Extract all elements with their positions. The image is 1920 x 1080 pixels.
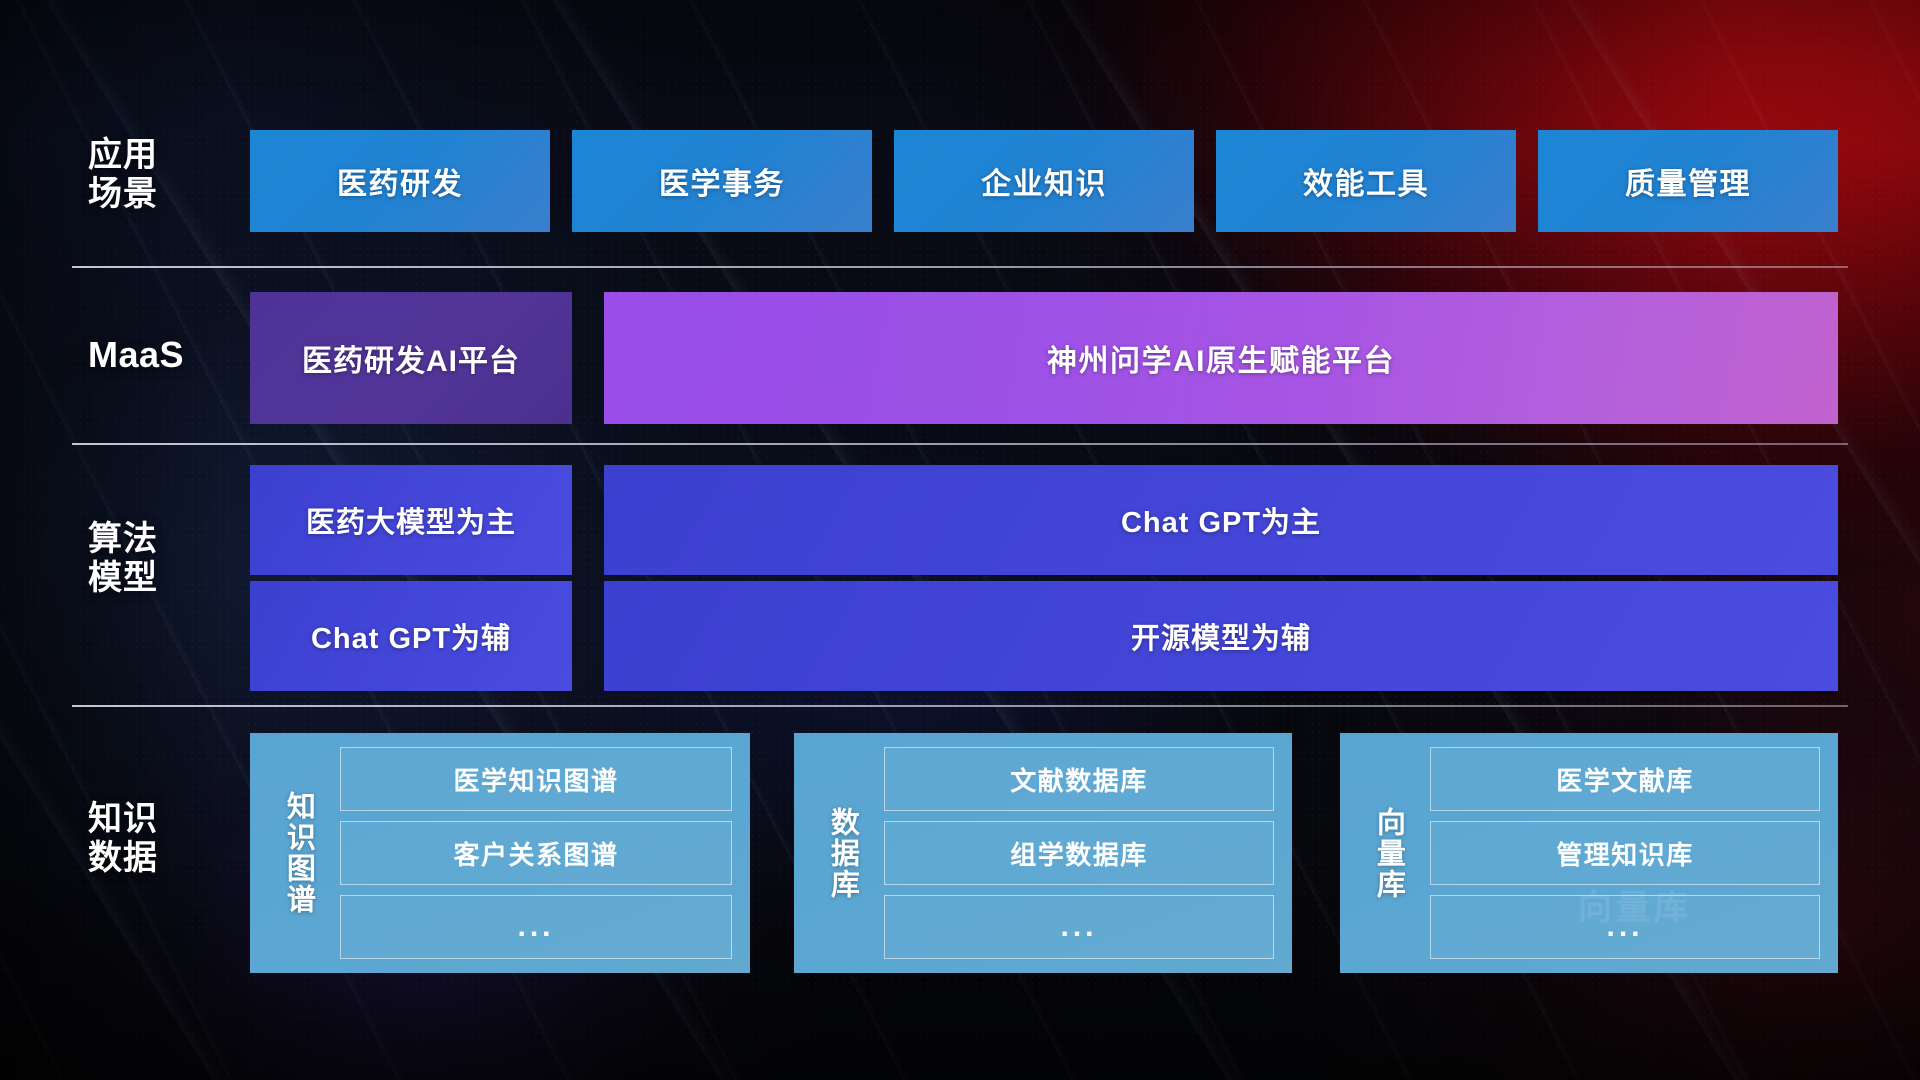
knowledge-group-title: 数据库 <box>816 807 868 900</box>
row-label-line-2: 数据 <box>88 839 238 878</box>
knowledge-item[interactable]: 文献数据库 <box>884 747 1274 811</box>
row-label-line-1: 应用 <box>88 136 238 175</box>
divider-3 <box>72 705 1848 707</box>
knowledge-item[interactable]: 客户关系图谱 <box>340 821 732 885</box>
app-box-5[interactable]: 质量管理 <box>1538 130 1838 232</box>
knowledge-item[interactable]: 管理知识库 <box>1430 821 1820 885</box>
knowledge-group-vector-store[interactable]: 向量库 医学文献库 管理知识库 ... <box>1340 733 1838 973</box>
algo-box-left-1[interactable]: 医药大模型为主 <box>250 465 572 575</box>
app-box-3[interactable]: 企业知识 <box>894 130 1194 232</box>
algo-box-right-2[interactable]: 开源模型为辅 <box>604 581 1838 691</box>
knowledge-group-item-list: 医学知识图谱 客户关系图谱 ... <box>340 747 732 959</box>
knowledge-item-more[interactable]: ... <box>1430 895 1820 959</box>
knowledge-item[interactable]: 医学知识图谱 <box>340 747 732 811</box>
row-label-knowledge-data: 知识 数据 <box>88 800 238 879</box>
row-label-line-2: 场景 <box>88 175 238 214</box>
row-label-line-1: 知识 <box>88 800 238 839</box>
divider-2 <box>72 443 1848 445</box>
app-box-2[interactable]: 医学事务 <box>572 130 872 232</box>
row-label-line-2: 模型 <box>88 559 238 598</box>
algo-box-left-2[interactable]: Chat GPT为辅 <box>250 581 572 691</box>
maas-box-shenzhou-wenxue-platform[interactable]: 神州问学AI原生赋能平台 <box>604 292 1838 424</box>
app-box-4[interactable]: 效能工具 <box>1216 130 1516 232</box>
app-box-1[interactable]: 医药研发 <box>250 130 550 232</box>
knowledge-item-more[interactable]: ... <box>340 895 732 959</box>
row-label-application-scenario: 应用 场景 <box>88 136 238 215</box>
row-label-maas: MaaS <box>88 334 238 376</box>
knowledge-group-item-list: 医学文献库 管理知识库 ... <box>1430 747 1820 959</box>
knowledge-item[interactable]: 组学数据库 <box>884 821 1274 885</box>
knowledge-group-item-list: 文献数据库 组学数据库 ... <box>884 747 1274 959</box>
diagram-canvas: 应用 场景 医药研发 医学事务 企业知识 效能工具 质量管理 MaaS 医药研发… <box>0 0 1920 1080</box>
knowledge-group-title: 向量库 <box>1362 807 1414 900</box>
knowledge-group-knowledge-graph[interactable]: 知识图谱 医学知识图谱 客户关系图谱 ... <box>250 733 750 973</box>
divider-1 <box>72 266 1848 268</box>
knowledge-group-database[interactable]: 数据库 文献数据库 组学数据库 ... <box>794 733 1292 973</box>
knowledge-group-title: 知识图谱 <box>272 791 324 915</box>
row-label-algorithm-model: 算法 模型 <box>88 520 238 599</box>
knowledge-item-more[interactable]: ... <box>884 895 1274 959</box>
knowledge-item[interactable]: 医学文献库 <box>1430 747 1820 811</box>
algo-box-right-1[interactable]: Chat GPT为主 <box>604 465 1838 575</box>
maas-box-pharma-ai-platform[interactable]: 医药研发AI平台 <box>250 292 572 424</box>
row-label-line-1: 算法 <box>88 520 238 559</box>
